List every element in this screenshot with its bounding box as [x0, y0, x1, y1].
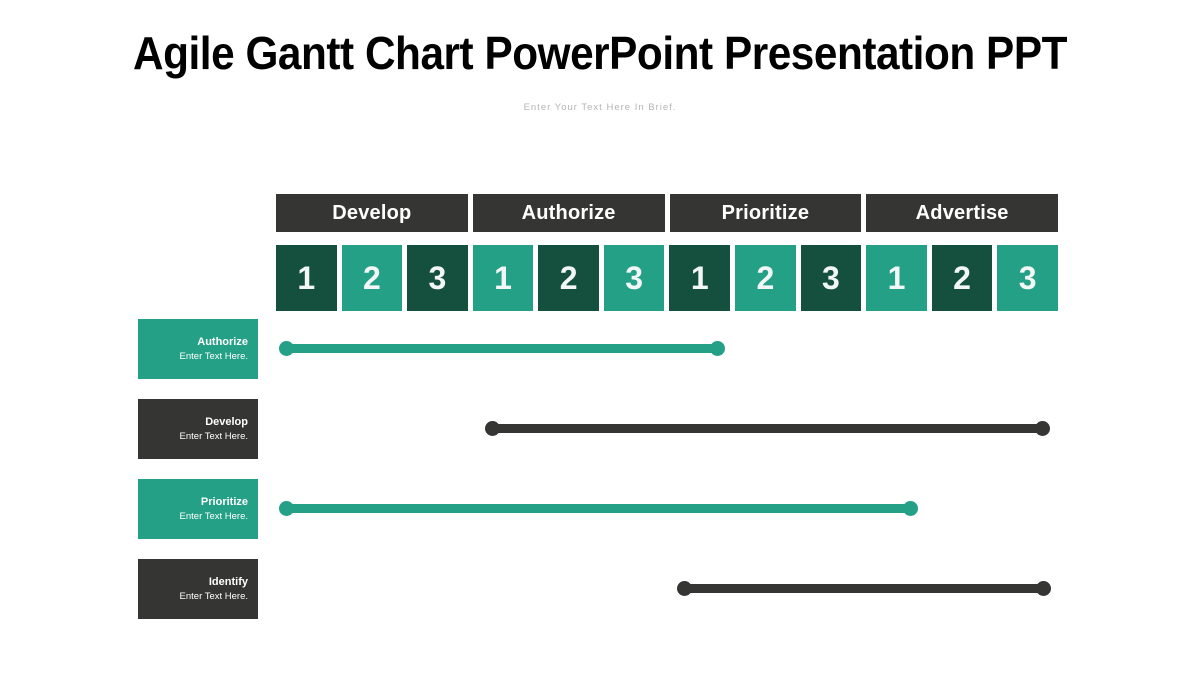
timeline-number-cell[interactable]: 3	[604, 245, 665, 311]
gantt-row: IdentifyEnter Text Here.	[0, 559, 1200, 619]
timeline-number-cell[interactable]: 3	[407, 245, 468, 311]
gantt-bar-track	[0, 559, 1200, 619]
phase-header-cell[interactable]: Develop	[276, 194, 468, 232]
gantt-row: DevelopEnter Text Here.	[0, 399, 1200, 459]
gantt-bar-start-handle[interactable]	[677, 581, 692, 596]
gantt-bar[interactable]	[680, 584, 1048, 593]
timeline-number-row: 123123123123	[276, 245, 1058, 311]
gantt-bar[interactable]	[282, 504, 915, 513]
timeline-number-cell[interactable]: 1	[866, 245, 927, 311]
gantt-bar-end-handle[interactable]	[1035, 421, 1050, 436]
phase-header-cell[interactable]: Authorize	[473, 194, 665, 232]
page-subtitle: Enter Your Text Here In Brief.	[0, 101, 1200, 115]
gantt-bar-track	[0, 319, 1200, 379]
gantt-bar[interactable]	[282, 344, 722, 353]
timeline-number-cell[interactable]: 2	[932, 245, 993, 311]
timeline-number-cell[interactable]: 2	[538, 245, 599, 311]
timeline-number-cell[interactable]: 1	[669, 245, 730, 311]
gantt-bar-start-handle[interactable]	[279, 341, 294, 356]
gantt-bar[interactable]	[488, 424, 1047, 433]
page-title: Agile Gantt Chart PowerPoint Presentatio…	[48, 26, 1152, 80]
timeline-number-cell[interactable]: 2	[342, 245, 403, 311]
gantt-bar-start-handle[interactable]	[279, 501, 294, 516]
gantt-chart-area: AuthorizeEnter Text Here.DevelopEnter Te…	[0, 318, 1200, 643]
phase-header-row: DevelopAuthorizePrioritizeAdvertise	[276, 194, 1058, 232]
gantt-row: AuthorizeEnter Text Here.	[0, 319, 1200, 379]
gantt-bar-end-handle[interactable]	[1036, 581, 1051, 596]
phase-header-cell[interactable]: Advertise	[866, 194, 1058, 232]
timeline-number-cell[interactable]: 1	[276, 245, 337, 311]
phase-header-cell[interactable]: Prioritize	[670, 194, 862, 232]
timeline-number-cell[interactable]: 3	[801, 245, 862, 311]
gantt-bar-end-handle[interactable]	[903, 501, 918, 516]
gantt-row: PrioritizeEnter Text Here.	[0, 479, 1200, 539]
timeline-number-cell[interactable]: 1	[473, 245, 534, 311]
gantt-bar-track	[0, 399, 1200, 459]
gantt-bar-start-handle[interactable]	[485, 421, 500, 436]
gantt-bar-track	[0, 479, 1200, 539]
timeline-number-cell[interactable]: 3	[997, 245, 1058, 311]
timeline-number-cell[interactable]: 2	[735, 245, 796, 311]
gantt-bar-end-handle[interactable]	[710, 341, 725, 356]
